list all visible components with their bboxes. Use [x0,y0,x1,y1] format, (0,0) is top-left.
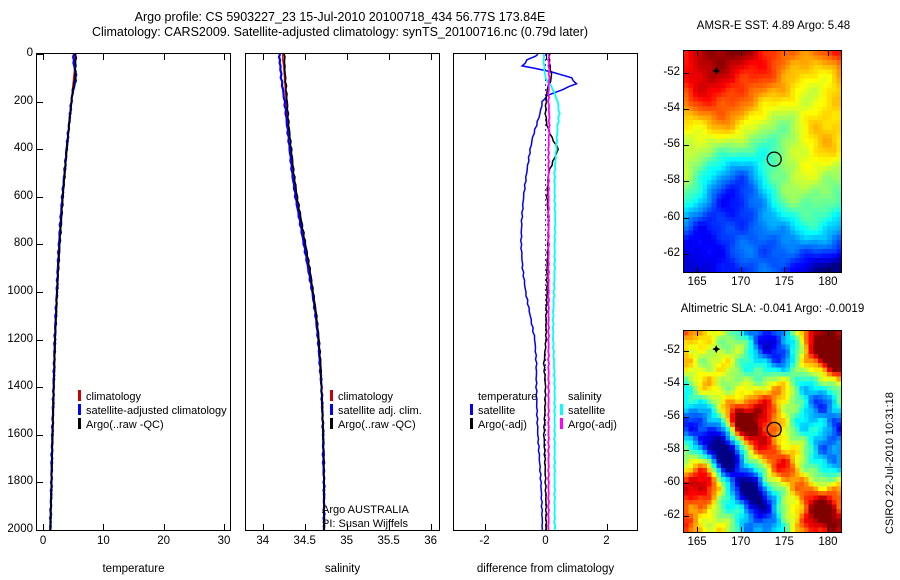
difference-tick [485,524,486,530]
sla-map-image [684,331,841,532]
sla-map-panel [683,330,842,533]
depth-tick-label: 1400 [0,380,33,392]
sst-lat-label: -56 [650,138,680,150]
legend-item: satellite [470,404,552,418]
salinity-tick [389,54,390,60]
depth-tick-label: 600 [0,190,33,202]
sla-lat-tick [684,516,689,517]
legend-label: Argo(-adj) [478,418,527,432]
figure-root: Argo profile: CS 5903227_23 15-Jul-2010 … [0,0,900,580]
depth-tick-label: 2000 [0,523,33,535]
difference-tick-label: 0 [520,535,572,547]
temperature-tick-label: 10 [77,535,129,547]
sst-lat-tick [684,218,689,219]
sst-lon-tick [741,51,742,56]
depth-tick [37,482,43,483]
sst-lat-tick [684,109,689,110]
salinity-tick [305,54,306,60]
salinity-tick-label: 36 [405,535,457,547]
sla-lon-tick [741,331,742,336]
sst-lon-tick [828,267,829,272]
sst-lon-tick [784,267,785,272]
sla-lon-tick [784,331,785,336]
temperature-tick [224,54,225,60]
sla-lon-label: 170 [721,536,761,548]
sst-lat-tick [684,145,689,146]
depth-tick [37,340,43,341]
difference-panel [453,53,638,531]
legend-item: Argo(..raw -QC) [330,418,440,432]
sla-lon-tick [697,331,698,336]
difference-curve-salinity-argo [548,54,550,530]
temperature-tick [224,524,225,530]
sst-lon-tick [697,51,698,56]
salinity-curve-argo [284,54,324,530]
depth-tick [37,149,43,150]
figure-title-line1: Argo profile: CS 5903227_23 15-Jul-2010 … [0,10,680,25]
salinity-tick [263,54,264,60]
sla-lat-label: -58 [650,443,680,455]
depth-tick [37,387,43,388]
temperature-tick [164,524,165,530]
salinity-tick [347,54,348,60]
legend-swatch-salinity-argo-icon [560,418,563,429]
sla-lat-tick [684,351,689,352]
difference-tick [546,524,547,530]
legend-label: Argo(..raw -QC) [86,418,164,432]
salinity-axis-label: salinity [245,563,440,575]
csiro-timestamp: CSIRO 22-Jul-2010 10:31:18 [884,392,896,534]
sst-lon-tick [828,51,829,56]
sla-lon-label: 180 [808,536,848,548]
depth-tick [37,530,43,531]
sst-lat-tick [684,181,689,182]
legend-item: satellite-adjusted climatology [78,404,231,418]
temperature-plot-area [37,54,230,530]
salinity-curve-satellite [279,54,325,530]
temperature-curve-satellite [50,54,76,530]
depth-tick [37,292,43,293]
credit-pi: PI: Susan Wijffels [322,517,440,531]
sla-lat-tick [684,384,689,385]
depth-tick-label: 400 [0,142,33,154]
sla-lon-tick [828,527,829,532]
sst-lat-label: -62 [650,247,680,259]
sla-lat-label: -56 [650,410,680,422]
legend-item: satellite [560,404,640,418]
sla-map-title: Altimetric SLA: -0.041 Argo: -0.0019 [655,303,890,315]
temperature-legend: climatology satellite-adjusted climatolo… [78,390,231,436]
legend-item: satellite adj. clim. [330,404,440,418]
depth-tick-label: 0 [0,47,33,59]
salinity-plot-area [246,54,439,530]
sla-lat-label: -54 [650,377,680,389]
legend-label: Argo(-adj) [568,418,617,432]
legend-label: satellite adj. clim. [338,404,422,418]
depth-tick-label: 800 [0,237,33,249]
sla-lat-label: -62 [650,509,680,521]
difference-plot-area [454,54,637,530]
difference-legend-temperature: temperature satellite Argo(-adj) [470,390,552,436]
sla-lat-tick [684,450,689,451]
legend-swatch-argo-icon [470,418,473,429]
temperature-tick-label: 0 [17,535,69,547]
legend-item: Argo(-adj) [470,418,552,432]
legend-header-temperature: temperature [470,390,552,404]
sst-map-title: AMSR-E SST: 4.89 Argo: 5.48 [666,20,881,32]
argo-credit: Argo AUSTRALIA PI: Susan Wijffels [322,503,440,533]
legend-label: climatology [338,390,393,404]
sst-lon-tick [741,267,742,272]
depth-tick-label: 1800 [0,475,33,487]
difference-tick [485,54,486,60]
sla-lon-tick [828,331,829,336]
sla-lon-label: 165 [677,536,717,548]
sst-lat-label: -58 [650,174,680,186]
salinity-tick [431,54,432,60]
legend-swatch-satellite-icon [330,404,333,415]
salinity-legend: climatology satellite adj. clim. Argo(..… [330,390,440,436]
salinity-panel [245,53,440,531]
temperature-curve-argo [50,54,76,530]
legend-swatch-salinity-satellite-icon [560,404,563,415]
depth-tick-label: 200 [0,95,33,107]
sla-lat-tick [684,417,689,418]
difference-axis-label: difference from climatology [448,563,643,575]
sst-map-panel [683,50,842,273]
sla-lon-tick [697,527,698,532]
figure-title-line2: Climatology: CARS2009. Satellite-adjuste… [0,25,680,40]
sst-lat-label: -54 [650,102,680,114]
difference-tick [607,524,608,530]
sla-lon-tick [784,527,785,532]
depth-tick [37,244,43,245]
sst-lon-label: 165 [677,276,717,288]
depth-tick-label: 1200 [0,333,33,345]
sst-lat-label: -60 [650,211,680,223]
sst-lat-label: -52 [650,66,680,78]
sst-lat-tick [684,73,689,74]
difference-tick [546,54,547,60]
sst-lon-label: 175 [764,276,804,288]
sst-lon-label: 170 [721,276,761,288]
depth-tick-label: 1000 [0,285,33,297]
legend-swatch-argo-icon [78,418,81,429]
sst-lon-tick [784,51,785,56]
temperature-tick [164,54,165,60]
legend-swatch-satellite-icon [470,404,473,415]
sla-lon-tick [741,527,742,532]
depth-tick [37,197,43,198]
legend-item: Argo(-adj) [560,418,640,432]
legend-item: Argo(..raw -QC) [78,418,231,432]
temperature-curve-climatology [50,54,75,530]
sst-map-image [684,51,841,272]
sla-lat-tick [684,483,689,484]
depth-tick [37,435,43,436]
salinity-tick [263,524,264,530]
temperature-tick [43,524,44,530]
credit-org: Argo AUSTRALIA [322,503,440,517]
sla-lon-label: 175 [764,536,804,548]
sst-lon-label: 180 [808,276,848,288]
temperature-tick [103,524,104,530]
temperature-tick [43,54,44,60]
salinity-tick [305,524,306,530]
sla-lat-label: -60 [650,476,680,488]
legend-swatch-climatology-icon [78,390,81,401]
difference-legend-salinity: salinity satellite Argo(-adj) [560,390,640,436]
legend-swatch-climatology-icon [330,390,333,401]
legend-swatch-argo-icon [330,418,333,429]
legend-label: satellite [478,404,515,418]
difference-tick-label: -2 [459,535,511,547]
depth-tick-label: 1600 [0,428,33,440]
legend-label: satellite-adjusted climatology [86,404,227,418]
temperature-tick-label: 20 [138,535,190,547]
legend-label: Argo(..raw -QC) [338,418,416,432]
difference-tick [607,54,608,60]
temperature-panel [36,53,231,531]
sst-lat-tick [684,254,689,255]
legend-item: climatology [330,390,440,404]
legend-swatch-satellite-icon [78,404,81,415]
legend-header-salinity: salinity [560,390,640,404]
temperature-axis-label: temperature [36,563,231,575]
temperature-tick [103,54,104,60]
legend-item: climatology [78,390,231,404]
sst-lon-tick [697,267,698,272]
legend-label: climatology [86,390,141,404]
depth-tick [37,102,43,103]
legend-label: satellite [568,404,605,418]
difference-tick-label: 2 [581,535,633,547]
sla-lat-label: -52 [650,344,680,356]
